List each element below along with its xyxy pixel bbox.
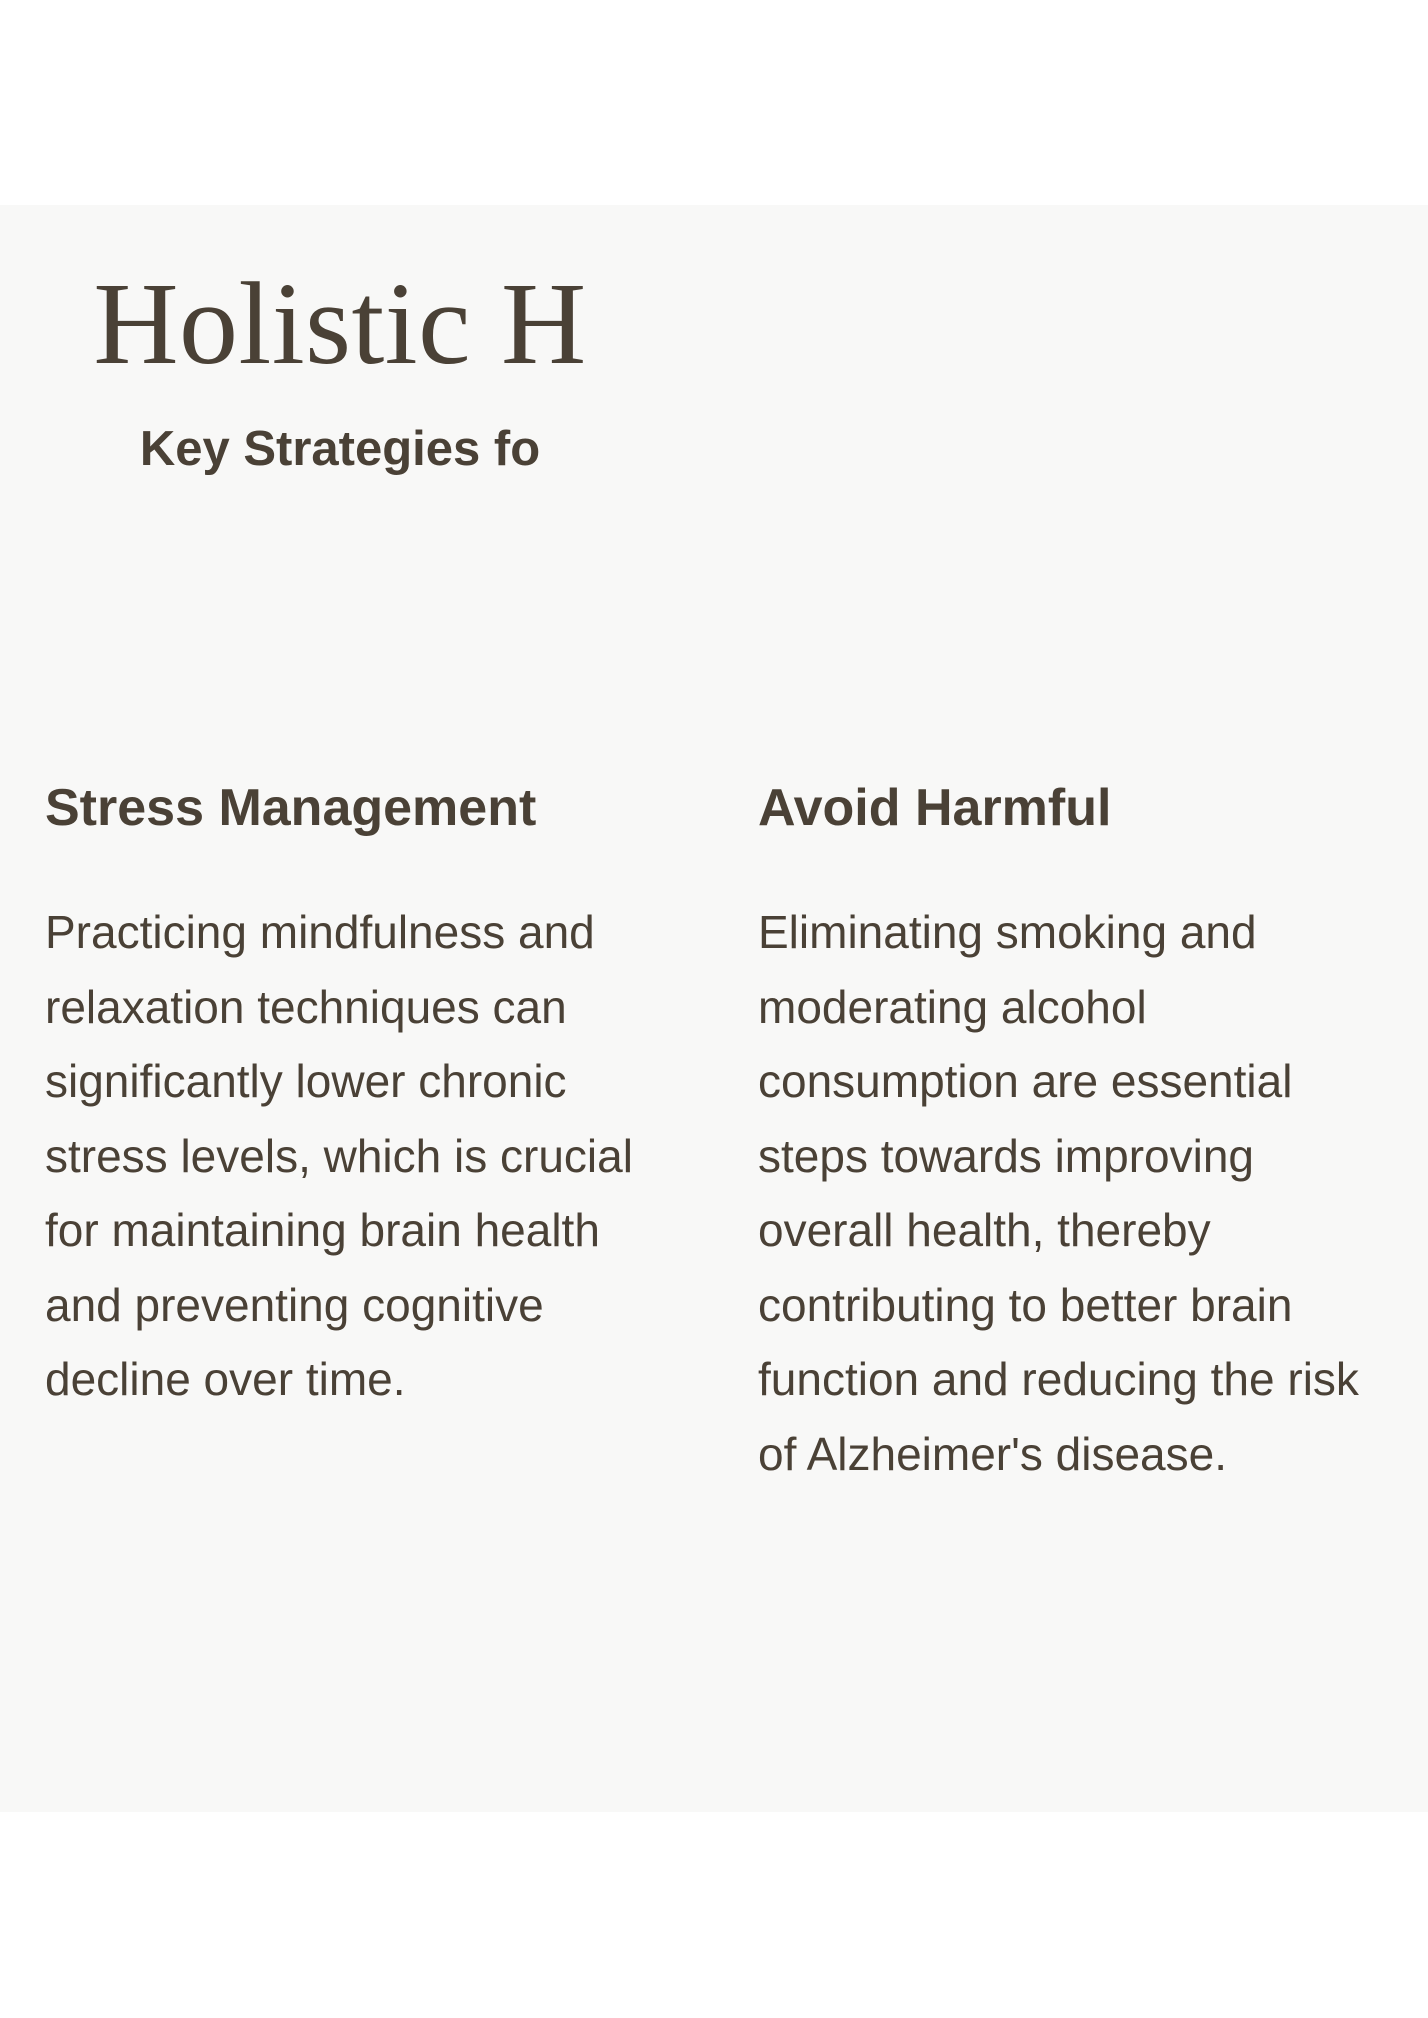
page-subtitle: Key Strategies fo <box>0 383 1428 474</box>
column-stress-management: Stress Management Practicing mindfulness… <box>45 780 675 1491</box>
columns-container: Stress Management Practicing mindfulness… <box>45 780 1428 1491</box>
content-panel: Holistic H Key Strategies fo Stress Mana… <box>0 205 1428 1812</box>
header-block: Holistic H Key Strategies fo <box>0 265 1428 474</box>
column-body-text: Practicing mindfulness and relaxation te… <box>45 895 675 1417</box>
column-avoid-harmful: Avoid Harmful Eliminating smoking and mo… <box>758 780 1388 1491</box>
column-heading: Stress Management <box>45 780 675 837</box>
column-heading: Avoid Harmful <box>758 780 1388 837</box>
column-body-text: Eliminating smoking and moderating alcoh… <box>758 895 1388 1491</box>
page-title: Holistic H <box>0 265 1428 383</box>
